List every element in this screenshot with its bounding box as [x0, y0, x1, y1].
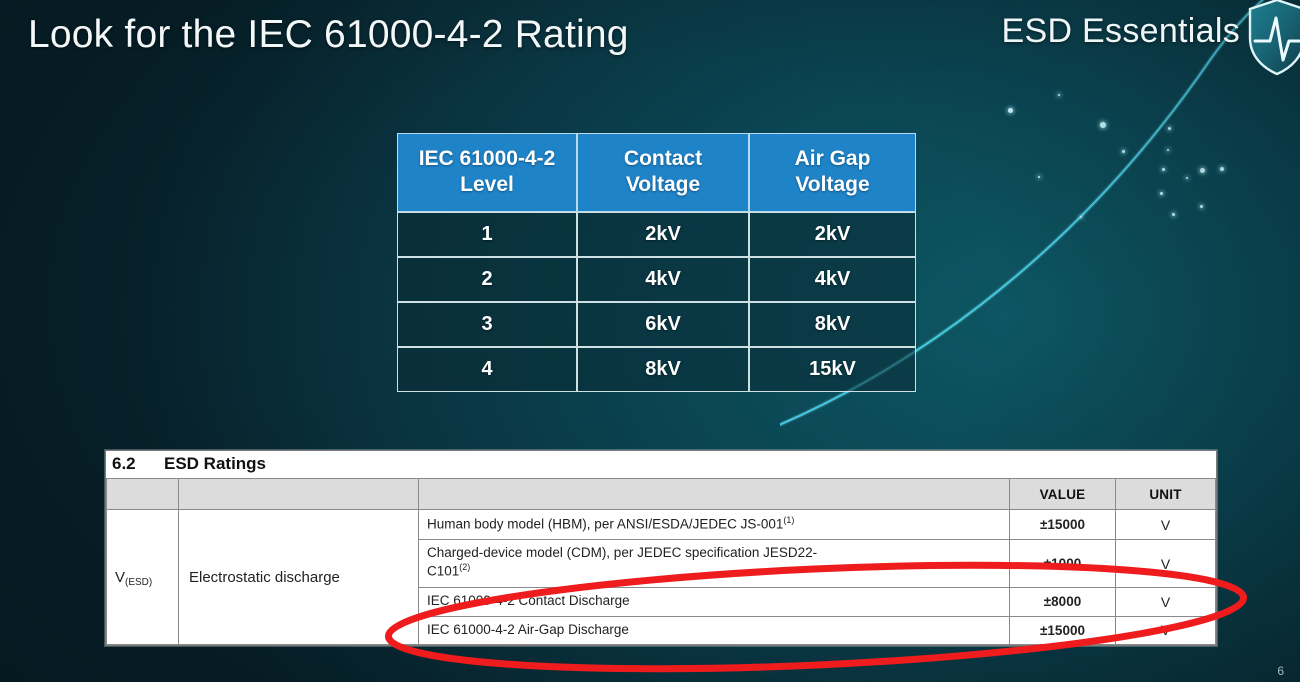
sparkle-dot [1080, 216, 1082, 218]
brand-label: ESD Essentials [1001, 12, 1240, 51]
cell-contact: 4kV [577, 257, 749, 302]
column-header-condition [419, 479, 1010, 510]
cell-value: ±1000 [1010, 540, 1116, 587]
header-line-2: Voltage [626, 173, 700, 196]
table-row: V(ESD) Electrostatic discharge Human bod… [107, 510, 1216, 540]
cell-unit: V [1116, 587, 1216, 616]
cell-condition: Charged-device model (CDM), per JEDEC sp… [419, 540, 1010, 587]
sparkle-dot [1122, 150, 1125, 153]
condition-text-line2: C101 [427, 564, 459, 579]
sparkle-dot [1100, 122, 1106, 128]
symbol-subscript: (ESD) [125, 577, 152, 588]
page-title: Look for the IEC 61000-4-2 Rating [28, 13, 629, 57]
header-line-2: Level [460, 173, 514, 196]
datasheet-section-title: 6.2ESD Ratings [106, 451, 1216, 478]
cell-airgap: 15kV [749, 347, 916, 392]
cell-value: ±8000 [1010, 587, 1116, 616]
symbol-text: V [115, 569, 125, 586]
cell-symbol: V(ESD) [107, 510, 179, 645]
sparkle-dot [1038, 176, 1040, 178]
cell-unit: V [1116, 616, 1216, 645]
page-number: 6 [1277, 664, 1284, 678]
cell-value: ±15000 [1010, 616, 1116, 645]
table-row: 1 2kV 2kV [397, 212, 916, 257]
cell-unit: V [1116, 510, 1216, 540]
cell-contact: 6kV [577, 302, 749, 347]
cell-level: 4 [397, 347, 577, 392]
column-header-air-gap-voltage: Air Gap Voltage [749, 133, 916, 212]
cell-airgap: 8kV [749, 302, 916, 347]
sparkle-dot [1008, 108, 1013, 113]
cell-value: ±15000 [1010, 510, 1116, 540]
section-title-text: ESD Ratings [164, 454, 266, 473]
sparkle-dot [1160, 192, 1163, 195]
cell-level: 3 [397, 302, 577, 347]
cell-level: 1 [397, 212, 577, 257]
sparkle-dot [1186, 177, 1188, 179]
header-line-1: Contact [624, 147, 702, 170]
sparkle-dot [1168, 127, 1171, 130]
condition-text: Charged-device model (CDM), per JEDEC sp… [427, 545, 817, 560]
cell-contact: 8kV [577, 347, 749, 392]
sparkle-dot [1058, 94, 1060, 96]
slide-canvas: Look for the IEC 61000-4-2 Rating ESD Es… [0, 0, 1300, 682]
condition-text: Human body model (HBM), per ANSI/ESDA/JE… [427, 517, 783, 532]
sparkle-dot [1162, 168, 1165, 171]
sparkle-dot [1200, 205, 1203, 208]
esd-ratings-table: VALUE UNIT V(ESD) Electrostatic discharg… [106, 478, 1216, 645]
table-header-row: IEC 61000-4-2 Level Contact Voltage Air … [397, 133, 916, 212]
footnote-marker: (2) [459, 562, 470, 572]
iec-level-table: IEC 61000-4-2 Level Contact Voltage Air … [397, 133, 916, 392]
cell-airgap: 2kV [749, 212, 916, 257]
header-line-2: Voltage [795, 173, 869, 196]
header-line-1: IEC 61000-4-2 [419, 147, 556, 170]
table-header-row: VALUE UNIT [107, 479, 1216, 510]
column-header-parameter [179, 479, 419, 510]
column-header-contact-voltage: Contact Voltage [577, 133, 749, 212]
column-header-symbol [107, 479, 179, 510]
table-row: 2 4kV 4kV [397, 257, 916, 302]
sparkle-dot [1200, 168, 1205, 173]
cell-airgap: 4kV [749, 257, 916, 302]
column-header-unit: UNIT [1116, 479, 1216, 510]
section-number: 6.2 [112, 454, 164, 474]
column-header-value: VALUE [1010, 479, 1116, 510]
cell-unit: V [1116, 540, 1216, 587]
table-row: 3 6kV 8kV [397, 302, 916, 347]
cell-condition: Human body model (HBM), per ANSI/ESDA/JE… [419, 510, 1010, 540]
cell-contact: 2kV [577, 212, 749, 257]
column-header-level: IEC 61000-4-2 Level [397, 133, 577, 212]
footnote-marker: (1) [783, 515, 794, 525]
shield-pulse-icon [1246, 0, 1300, 76]
cell-level: 2 [397, 257, 577, 302]
cell-parameter: Electrostatic discharge [179, 510, 419, 645]
datasheet-excerpt: 6.2ESD Ratings VALUE UNIT V(ESD) Electro… [105, 450, 1217, 646]
sparkle-dot [1220, 167, 1224, 171]
cell-condition: IEC 61000-4-2 Contact Discharge [419, 587, 1010, 616]
cell-condition: IEC 61000-4-2 Air-Gap Discharge [419, 616, 1010, 645]
sparkle-dot [1167, 149, 1169, 151]
table-row: 4 8kV 15kV [397, 347, 916, 392]
header-line-1: Air Gap [795, 147, 871, 170]
sparkle-dot [1172, 213, 1175, 216]
